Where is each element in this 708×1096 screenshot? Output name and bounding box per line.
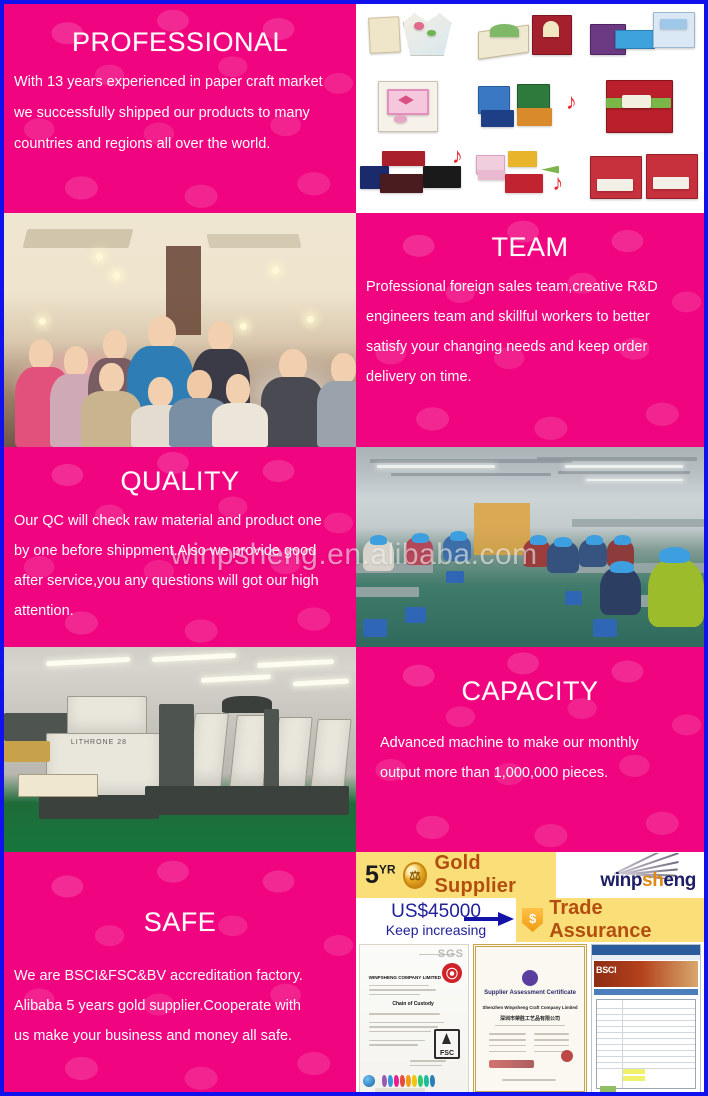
product-item — [588, 8, 700, 74]
globe-icon — [363, 1075, 375, 1087]
trade-assurance-badge: $ Trade Assurance — [516, 898, 704, 942]
section-body-team: Professional foreign sales team,creative… — [364, 272, 696, 393]
gold-supplier-badge: 5YR ⚖ Gold Supplier — [356, 852, 556, 898]
trade-assurance-row: US$45000 Keep increasing $ Trade Assuran… — [356, 898, 704, 942]
factory-workshop-photo — [356, 447, 704, 647]
text-line: after service,you any questions will got… — [14, 573, 319, 589]
text-line: satisfy your changing needs and keep ord… — [366, 339, 647, 355]
text-line: output more than 1,000,000 pieces. — [380, 765, 608, 781]
products-collage-photo: ♪ ♪ — [356, 4, 704, 213]
certificate-company: Shenzhen Winpsheng Craft Company Limited — [476, 1005, 584, 1010]
section-title-professional: PROFESSIONAL — [12, 22, 348, 63]
gold-coin-icon: ⚖ — [403, 862, 428, 889]
text-line: Our QC will check raw material and produ… — [14, 513, 322, 529]
fsc-logo-icon: FSC — [434, 1029, 460, 1059]
promo-banner: PROFESSIONAL With 13 years experienced i… — [0, 0, 708, 1096]
certificate-title: Supplier Assessment Certificate — [476, 990, 584, 996]
text-line: countries and regions all over the world… — [14, 136, 270, 152]
text-line: us make your business and money all safe… — [14, 1028, 292, 1044]
section-safe: SAFE We are BSCI&FSC&BV accreditation fa… — [4, 852, 356, 1096]
section-professional: PROFESSIONAL With 13 years experienced i… — [4, 4, 356, 213]
certificate-thumbnails: SGS ⦿ WINPSHENG COMPANY LIMITED Chain of… — [356, 942, 704, 1096]
section-title-safe: SAFE — [12, 902, 348, 943]
gold-supplier-years: 5YR — [365, 863, 396, 888]
music-note-icon: ♪ — [566, 91, 577, 113]
section-quality: QUALITY Our QC will check raw material a… — [4, 447, 356, 647]
section-title-quality: QUALITY — [12, 461, 348, 502]
certificate-scheme: Chain of Custody — [392, 1001, 433, 1007]
trade-assurance-label: Trade Assurance — [549, 897, 704, 943]
brand-wordmark: winpsheng — [600, 870, 696, 892]
trade-assurance-note: Keep increasing — [386, 922, 486, 939]
text-line: we successfully shipped our products to … — [14, 105, 310, 121]
section-body-professional: With 13 years experienced in paper craft… — [12, 67, 348, 161]
section-capacity: CAPACITY Advanced machine to make our mo… — [356, 647, 704, 852]
text-line: Professional foreign sales team,creative… — [366, 279, 658, 295]
section-body-safe: We are BSCI&FSC&BV accreditation factory… — [12, 961, 348, 1051]
text-line: We are BSCI&FSC&BV accreditation factory… — [14, 968, 303, 984]
team-group-photo — [4, 213, 356, 447]
product-item: ♪ — [360, 143, 472, 209]
product-item — [588, 143, 700, 209]
certificate-bsci: BSCI — [591, 944, 701, 1094]
feature-grid: PROFESSIONAL With 13 years experienced i… — [4, 4, 704, 1092]
certificate-company: WINPSHENG COMPANY LIMITED — [369, 975, 460, 981]
text-line: engineers team and skillful workers to b… — [366, 309, 650, 325]
music-note-icon: ♪ — [552, 172, 563, 194]
product-item — [360, 8, 472, 74]
text-line: With 13 years experienced in paper craft… — [14, 74, 323, 90]
certificates-panel: 5YR ⚖ Gold Supplier winpsheng — [356, 852, 704, 1096]
product-item: ♪ — [474, 76, 586, 142]
product-item — [588, 76, 700, 142]
music-note-icon: ♪ — [452, 145, 463, 167]
dollar-shield-icon: $ — [522, 908, 543, 932]
section-body-capacity: Advanced machine to make our monthly out… — [364, 728, 696, 788]
gold-supplier-label: Gold Supplier — [434, 852, 556, 898]
section-title-capacity: CAPACITY — [364, 671, 696, 712]
certificate-company-cn: 深圳市荣胜工艺品有限公司 — [476, 1015, 584, 1022]
offset-printing-press-photo: LITHRONE 28 — [4, 647, 356, 852]
text-line: Advanced machine to make our monthly — [380, 735, 639, 751]
product-item — [360, 76, 472, 142]
section-body-quality: Our QC will check raw material and produ… — [12, 506, 348, 627]
product-item — [474, 8, 586, 74]
text-line: attention. — [14, 603, 74, 619]
section-title-team: TEAM — [364, 227, 696, 268]
product-item: ♪ — [474, 143, 586, 209]
right-arrow-icon — [464, 914, 516, 924]
section-team: TEAM Professional foreign sales team,cre… — [356, 213, 704, 447]
assessment-seal-icon — [522, 970, 538, 986]
text-line: by one before shippment.Also we provide … — [14, 543, 316, 559]
text-line: delivery on time. — [366, 369, 472, 385]
sgs-rainbow-icon — [382, 1075, 435, 1087]
certificate-sgs-fsc: SGS ⦿ WINPSHENG COMPANY LIMITED Chain of… — [359, 944, 469, 1094]
brand-logo-area: winpsheng — [556, 852, 704, 898]
gold-supplier-row: 5YR ⚖ Gold Supplier winpsheng — [356, 852, 704, 898]
bsci-logo-icon: BSCI — [596, 965, 616, 975]
certificate-supplier-assessment: Supplier Assessment Certificate Shenzhen… — [473, 944, 587, 1094]
text-line: Alibaba 5 years gold supplier.Cooperate … — [14, 998, 301, 1014]
